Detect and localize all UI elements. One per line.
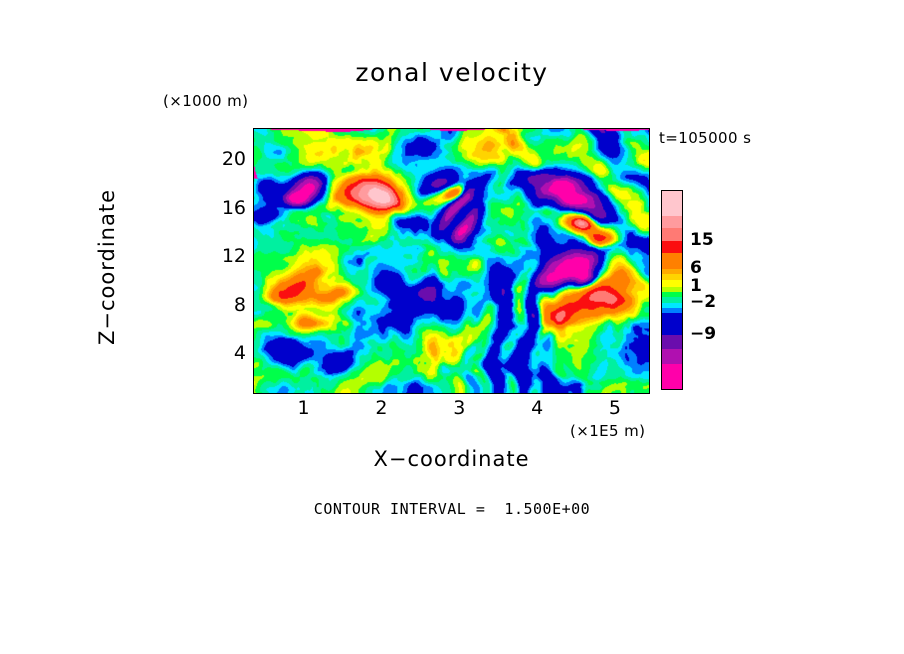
x-axis-unit-label: (×1E5 m): [570, 422, 645, 440]
x-tick-label: 3: [439, 397, 479, 419]
contour-plot-area: [253, 128, 650, 394]
y-axis-tick-labels: 48121620: [196, 128, 246, 394]
x-tick-label: 2: [361, 397, 401, 419]
contour-figure: zonal velocity (×1000 m) t=105000 s Z−co…: [0, 0, 904, 654]
y-tick-label: 20: [206, 148, 246, 170]
colorbar-band: [662, 216, 682, 229]
colorbar-band: [662, 253, 682, 270]
colorbar: [661, 190, 683, 390]
colorbar-band: [662, 191, 682, 217]
colorbar-band: [662, 313, 682, 335]
y-tick-label: 12: [206, 245, 246, 267]
contour-field: [254, 129, 649, 393]
x-tick-label: 5: [595, 397, 635, 419]
x-tick-label: 1: [284, 397, 324, 419]
page-title: zonal velocity: [0, 58, 904, 87]
colorbar-band: [662, 228, 682, 241]
colorbar-tick-label: 15: [690, 230, 714, 250]
y-tick-label: 16: [206, 197, 246, 219]
time-annotation: t=105000 s: [659, 129, 751, 147]
colorbar-tick-labels: 1561−2−9: [690, 190, 760, 390]
contour-interval-note: CONTOUR INTERVAL = 1.500E+00: [0, 500, 904, 518]
colorbar-band: [662, 241, 682, 254]
y-tick-label: 8: [206, 294, 246, 316]
x-axis-title: X−coordinate: [253, 447, 650, 471]
y-axis-title: Z−coordinate: [95, 147, 119, 387]
x-tick-label: 4: [517, 397, 557, 419]
colorbar-band: [662, 335, 682, 350]
colorbar-tick-label: −2: [690, 292, 716, 312]
colorbar-band: [662, 364, 682, 389]
y-axis-unit-label: (×1000 m): [163, 92, 248, 110]
x-axis-tick-labels: 12345: [253, 397, 650, 423]
y-tick-label: 4: [206, 342, 246, 364]
colorbar-tick-label: −9: [690, 324, 716, 344]
colorbar-band: [662, 349, 682, 364]
